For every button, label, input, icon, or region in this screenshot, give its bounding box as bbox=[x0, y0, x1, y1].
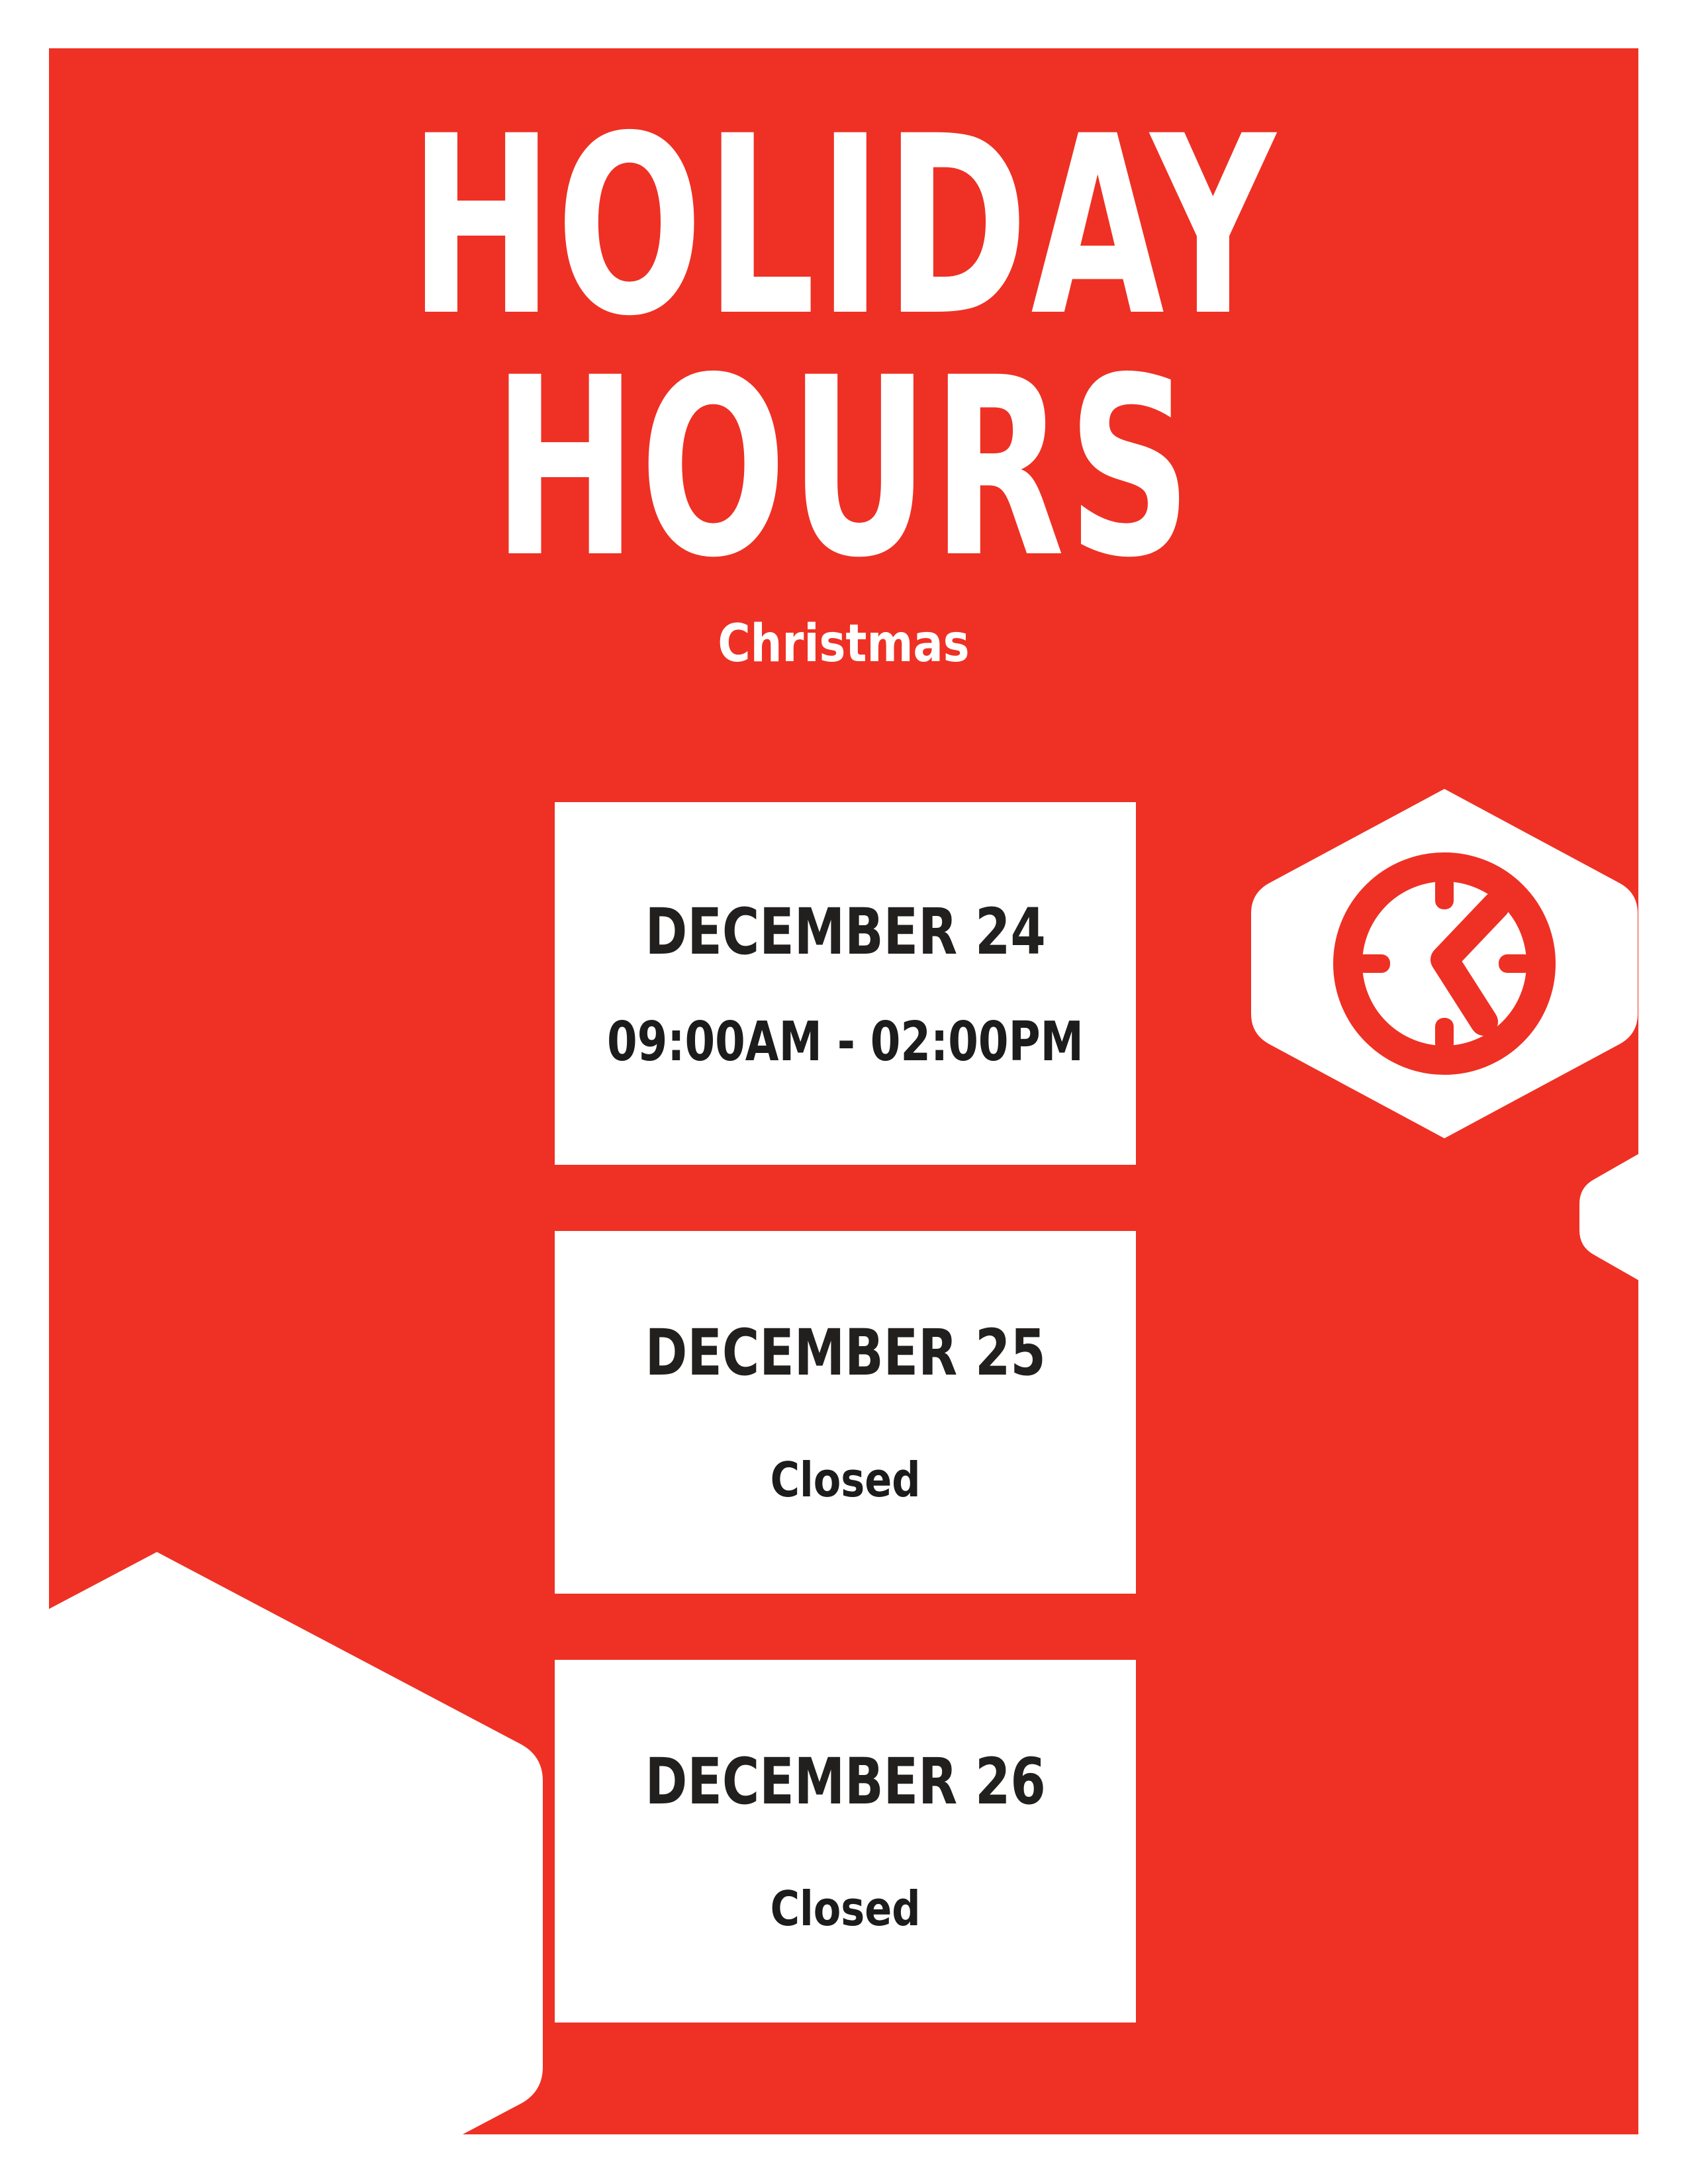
schedule-card-december-24[interactable]: DECEMBER 24 09:00AM - 02:00PM bbox=[555, 802, 1136, 1165]
poster-background-panel: HOLIDAY HOURS Christmas DECEMBER 24 bbox=[49, 48, 1638, 2134]
hexagon-accent-small bbox=[1579, 1137, 1638, 1297]
page-title-line-1: HOLIDAY bbox=[287, 107, 1400, 348]
schedule-card-status: Closed bbox=[771, 1885, 921, 1933]
schedule-card-date: DECEMBER 26 bbox=[645, 1750, 1045, 1813]
clock-icon bbox=[1348, 867, 1541, 1060]
page-title-line-2: HOURS bbox=[287, 348, 1400, 590]
schedule-card-status: Closed bbox=[771, 1456, 921, 1504]
schedule-list: DECEMBER 24 09:00AM - 02:00PM DECEMBER 2… bbox=[555, 802, 1136, 2023]
poster-heading: HOLIDAY HOURS Christmas bbox=[49, 48, 1638, 670]
schedule-card-hours: 09:00AM - 02:00PM bbox=[607, 1015, 1084, 1069]
schedule-card-december-26[interactable]: DECEMBER 26 Closed bbox=[555, 1660, 1136, 2023]
hexagon-accent-bottom-left bbox=[49, 1533, 561, 2134]
schedule-card-december-25[interactable]: DECEMBER 25 Closed bbox=[555, 1231, 1136, 1594]
hexagon-clock-badge bbox=[1251, 785, 1638, 1142]
page-subtitle: Christmas bbox=[160, 618, 1527, 670]
schedule-card-date: DECEMBER 24 bbox=[645, 900, 1045, 964]
holiday-hours-poster: HOLIDAY HOURS Christmas DECEMBER 24 bbox=[0, 0, 1688, 2184]
schedule-card-date: DECEMBER 25 bbox=[645, 1321, 1045, 1385]
